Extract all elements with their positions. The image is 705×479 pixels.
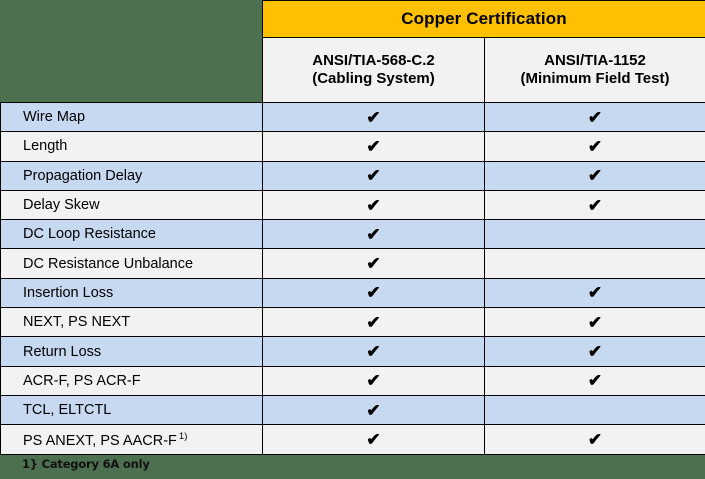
checkmark-cell-ansi-tia-1152: ✔ [485,337,705,366]
check-icon: ✔ [588,167,602,184]
row-label-cell: Wire Map [1,103,263,132]
row-label-cell: Insertion Loss [1,278,263,307]
row-label-cell: PS ANEXT, PS AACR-F1) [1,425,263,454]
column-header-line1: ANSI/TIA-568-C.2 [312,52,435,69]
checkmark-cell-ansi-tia-568-c2: ✔ [263,395,485,424]
row-label-cell: Return Loss [1,337,263,366]
row-label: NEXT, PS NEXT [23,314,130,330]
check-icon: ✔ [366,167,380,184]
check-icon: ✔ [366,109,380,126]
row-label-cell: Delay Skew [1,190,263,219]
footnote-text: 1} Category 6A only [22,457,150,471]
table-row: DC Resistance Unbalance✔ [1,249,705,278]
check-icon: ✔ [366,138,380,155]
checkmark-cell-ansi-tia-1152: ✔ [485,161,705,190]
table-row: Wire Map✔✔ [1,103,705,132]
table-row: Delay Skew✔✔ [1,190,705,219]
corner-spacer-2 [1,38,263,103]
table-header: Copper Certification ANSI/TIA-568-C.2 (C… [1,1,705,103]
check-icon: ✔ [588,343,602,360]
check-icon: ✔ [366,197,380,214]
checkmark-cell-ansi-tia-568-c2: ✔ [263,161,485,190]
row-label: Return Loss [23,344,101,360]
row-label: Length [23,138,67,154]
checkmark-cell-ansi-tia-568-c2: ✔ [263,425,485,454]
check-icon: ✔ [366,402,380,419]
checkmark-cell-ansi-tia-1152: ✔ [485,132,705,161]
checkmark-cell-ansi-tia-1152 [485,249,705,278]
column-header-line1: ANSI/TIA-1152 [544,52,646,69]
row-label: TCL, ELTCTL [23,402,111,418]
row-label-cell: TCL, ELTCTL [1,395,263,424]
row-label: PS ANEXT, PS AACR-F [23,432,177,448]
corner-spacer [1,1,263,38]
table-figure: Copper Certification ANSI/TIA-568-C.2 (C… [0,0,705,479]
checkmark-cell-ansi-tia-1152 [485,220,705,249]
row-label-cell: DC Resistance Unbalance [1,249,263,278]
check-icon: ✔ [366,372,380,389]
table-row: DC Loop Resistance✔ [1,220,705,249]
checkmark-cell-ansi-tia-568-c2: ✔ [263,190,485,219]
row-label: DC Resistance Unbalance [23,256,193,272]
column-header-ansi-tia-568-c2: ANSI/TIA-568-C.2 (Cabling System) [263,38,485,103]
row-label-cell: DC Loop Resistance [1,220,263,249]
row-label: Propagation Delay [23,168,142,184]
table-row: Length✔✔ [1,132,705,161]
checkmark-cell-ansi-tia-568-c2: ✔ [263,249,485,278]
column-header-line2: (Minimum Field Test) [489,70,701,88]
check-icon: ✔ [588,372,602,389]
check-icon: ✔ [366,226,380,243]
table-body: Wire Map✔✔Length✔✔Propagation Delay✔✔Del… [1,103,705,455]
row-label-cell: Length [1,132,263,161]
table-row: ACR-F, PS ACR-F✔✔ [1,366,705,395]
footnote-marker: 1) [179,431,187,442]
row-label: ACR-F, PS ACR-F [23,373,141,389]
row-label-cell: ACR-F, PS ACR-F [1,366,263,395]
header-row-standards: ANSI/TIA-568-C.2 (Cabling System) ANSI/T… [1,38,705,103]
column-header-ansi-tia-1152: ANSI/TIA-1152 (Minimum Field Test) [485,38,705,103]
check-icon: ✔ [366,431,380,448]
checkmark-cell-ansi-tia-568-c2: ✔ [263,366,485,395]
checkmark-cell-ansi-tia-568-c2: ✔ [263,220,485,249]
column-header-line2: (Cabling System) [267,70,480,88]
checkmark-cell-ansi-tia-568-c2: ✔ [263,278,485,307]
check-icon: ✔ [588,109,602,126]
check-icon: ✔ [366,314,380,331]
checkmark-cell-ansi-tia-568-c2: ✔ [263,132,485,161]
table-row: PS ANEXT, PS AACR-F1)✔✔ [1,425,705,454]
checkmark-cell-ansi-tia-1152: ✔ [485,425,705,454]
check-icon: ✔ [588,284,602,301]
row-label: Wire Map [23,109,85,125]
check-icon: ✔ [366,255,380,272]
header-row-group: Copper Certification [1,1,705,38]
checkmark-cell-ansi-tia-1152: ✔ [485,308,705,337]
checkmark-cell-ansi-tia-568-c2: ✔ [263,308,485,337]
check-icon: ✔ [588,197,602,214]
checkmark-cell-ansi-tia-568-c2: ✔ [263,103,485,132]
checkmark-cell-ansi-tia-568-c2: ✔ [263,337,485,366]
table-row: TCL, ELTCTL✔ [1,395,705,424]
check-icon: ✔ [588,314,602,331]
check-icon: ✔ [366,343,380,360]
check-icon: ✔ [366,284,380,301]
checkmark-cell-ansi-tia-1152: ✔ [485,103,705,132]
table-row: NEXT, PS NEXT✔✔ [1,308,705,337]
group-header-copper-certification: Copper Certification [263,1,705,38]
check-icon: ✔ [588,138,602,155]
row-label-cell: NEXT, PS NEXT [1,308,263,337]
check-icon: ✔ [588,431,602,448]
checkmark-cell-ansi-tia-1152: ✔ [485,366,705,395]
table-row: Insertion Loss✔✔ [1,278,705,307]
row-label: DC Loop Resistance [23,226,156,242]
checkmark-cell-ansi-tia-1152: ✔ [485,190,705,219]
row-label-cell: Propagation Delay [1,161,263,190]
row-label: Insertion Loss [23,285,113,301]
table-row: Propagation Delay✔✔ [1,161,705,190]
table-row: Return Loss✔✔ [1,337,705,366]
row-label: Delay Skew [23,197,100,213]
copper-certification-table: Copper Certification ANSI/TIA-568-C.2 (C… [0,0,705,455]
checkmark-cell-ansi-tia-1152 [485,395,705,424]
checkmark-cell-ansi-tia-1152: ✔ [485,278,705,307]
